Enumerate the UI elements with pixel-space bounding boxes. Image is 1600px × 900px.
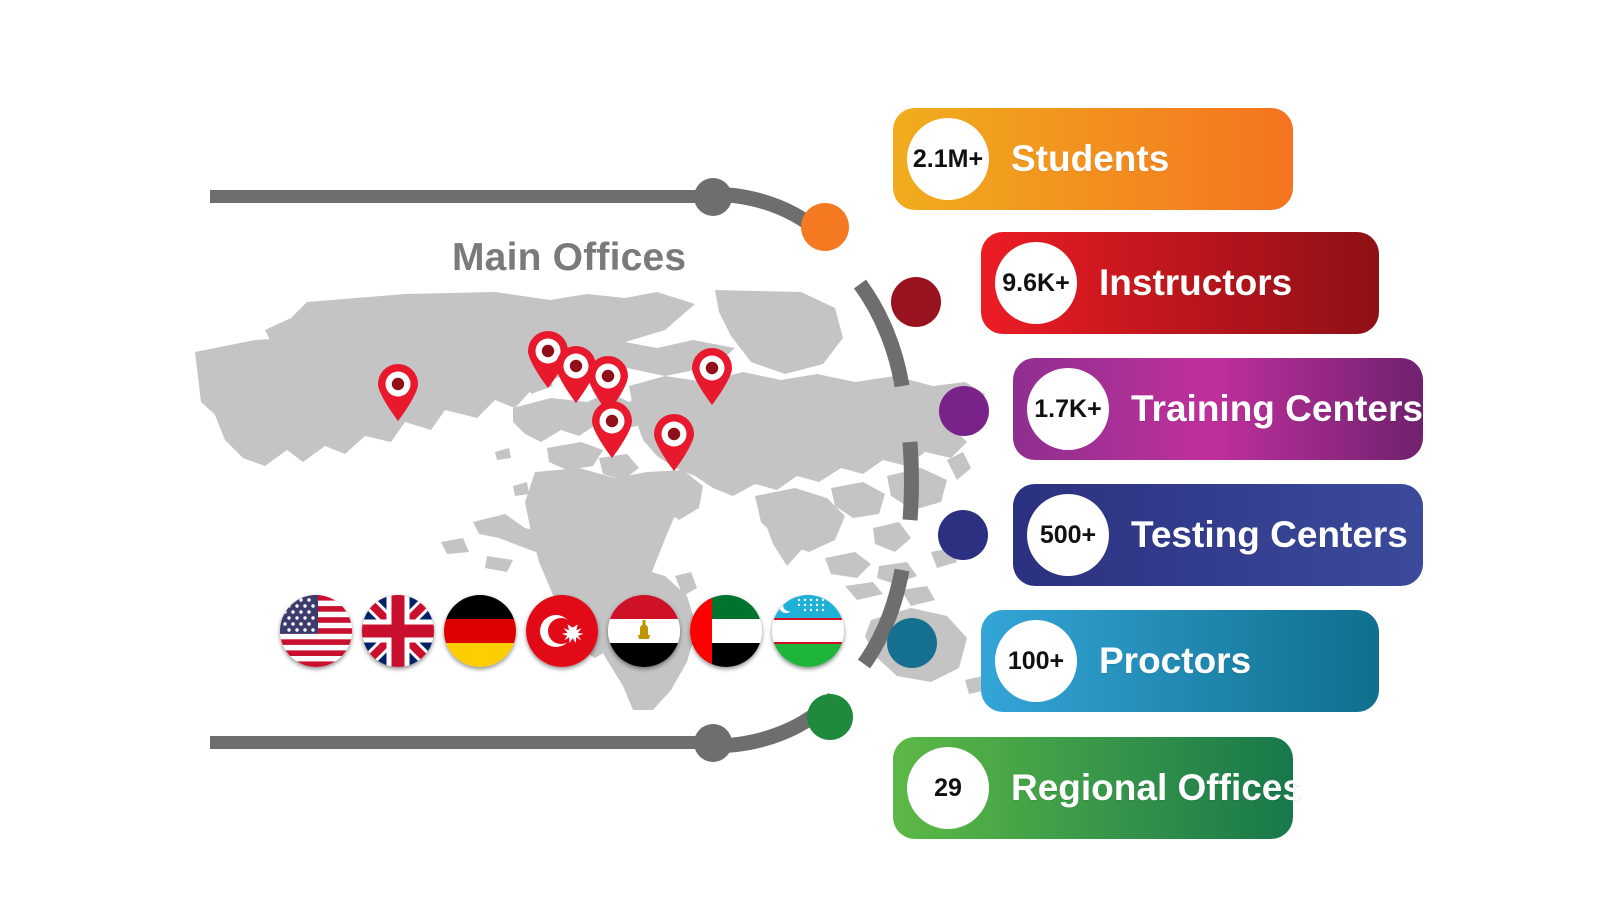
map-pin-icon [376,364,420,422]
badge-regional-offices-value-bubble: 29 [907,747,989,829]
flag-united-states-icon[interactable] [280,595,352,667]
rail-top [210,190,715,203]
arc-connector [700,150,1020,790]
badge-training-centers[interactable]: 1.7K+Training Centers [1013,358,1423,460]
badge-students[interactable]: 2.1M+Students [893,108,1293,210]
map-pin-icon [652,414,696,472]
flag-turkey-icon[interactable] [526,595,598,667]
map-pin-icon [590,401,634,459]
badge-instructors-value-bubble: 9.6K+ [995,242,1077,324]
arc-dot-regional-offices[interactable] [807,694,853,740]
badge-testing-centers-value-bubble: 500+ [1027,494,1109,576]
badge-proctors-value-bubble: 100+ [995,620,1077,702]
arc-dot-proctors[interactable] [887,618,937,668]
badge-students-value-bubble: 2.1M+ [907,118,989,200]
pin-middle-east[interactable] [652,414,696,477]
badge-proctors-label: Proctors [1099,640,1251,682]
badge-training-centers-label: Training Centers [1131,388,1423,430]
arc-dot-testing-centers[interactable] [938,510,988,560]
badge-testing-centers[interactable]: 500+Testing Centers [1013,484,1423,586]
pin-north-america[interactable] [376,364,420,427]
flag-united-kingdom-icon[interactable] [362,595,434,667]
arc-dot-instructors[interactable] [891,277,941,327]
badge-instructors-label: Instructors [1099,262,1292,304]
badge-proctors[interactable]: 100+Proctors [981,610,1379,712]
flag-egypt-icon[interactable] [608,595,680,667]
badge-testing-centers-label: Testing Centers [1131,514,1408,556]
badge-training-centers-value-bubble: 1.7K+ [1027,368,1109,450]
pin-mediterranean[interactable] [590,401,634,464]
arc-dot-training-centers[interactable] [939,386,989,436]
badge-regional-offices-label: Regional Offices [1011,767,1303,809]
arc-dot-students[interactable] [801,203,849,251]
badge-instructors[interactable]: 9.6K+Instructors [981,232,1379,334]
infographic-root: Main Offices 2.1M+Students9.6K+Instructo… [0,0,1600,900]
rail-bottom [210,736,715,749]
badge-students-label: Students [1011,138,1169,180]
badge-regional-offices[interactable]: 29Regional Offices [893,737,1293,839]
flag-germany-icon[interactable] [444,595,516,667]
